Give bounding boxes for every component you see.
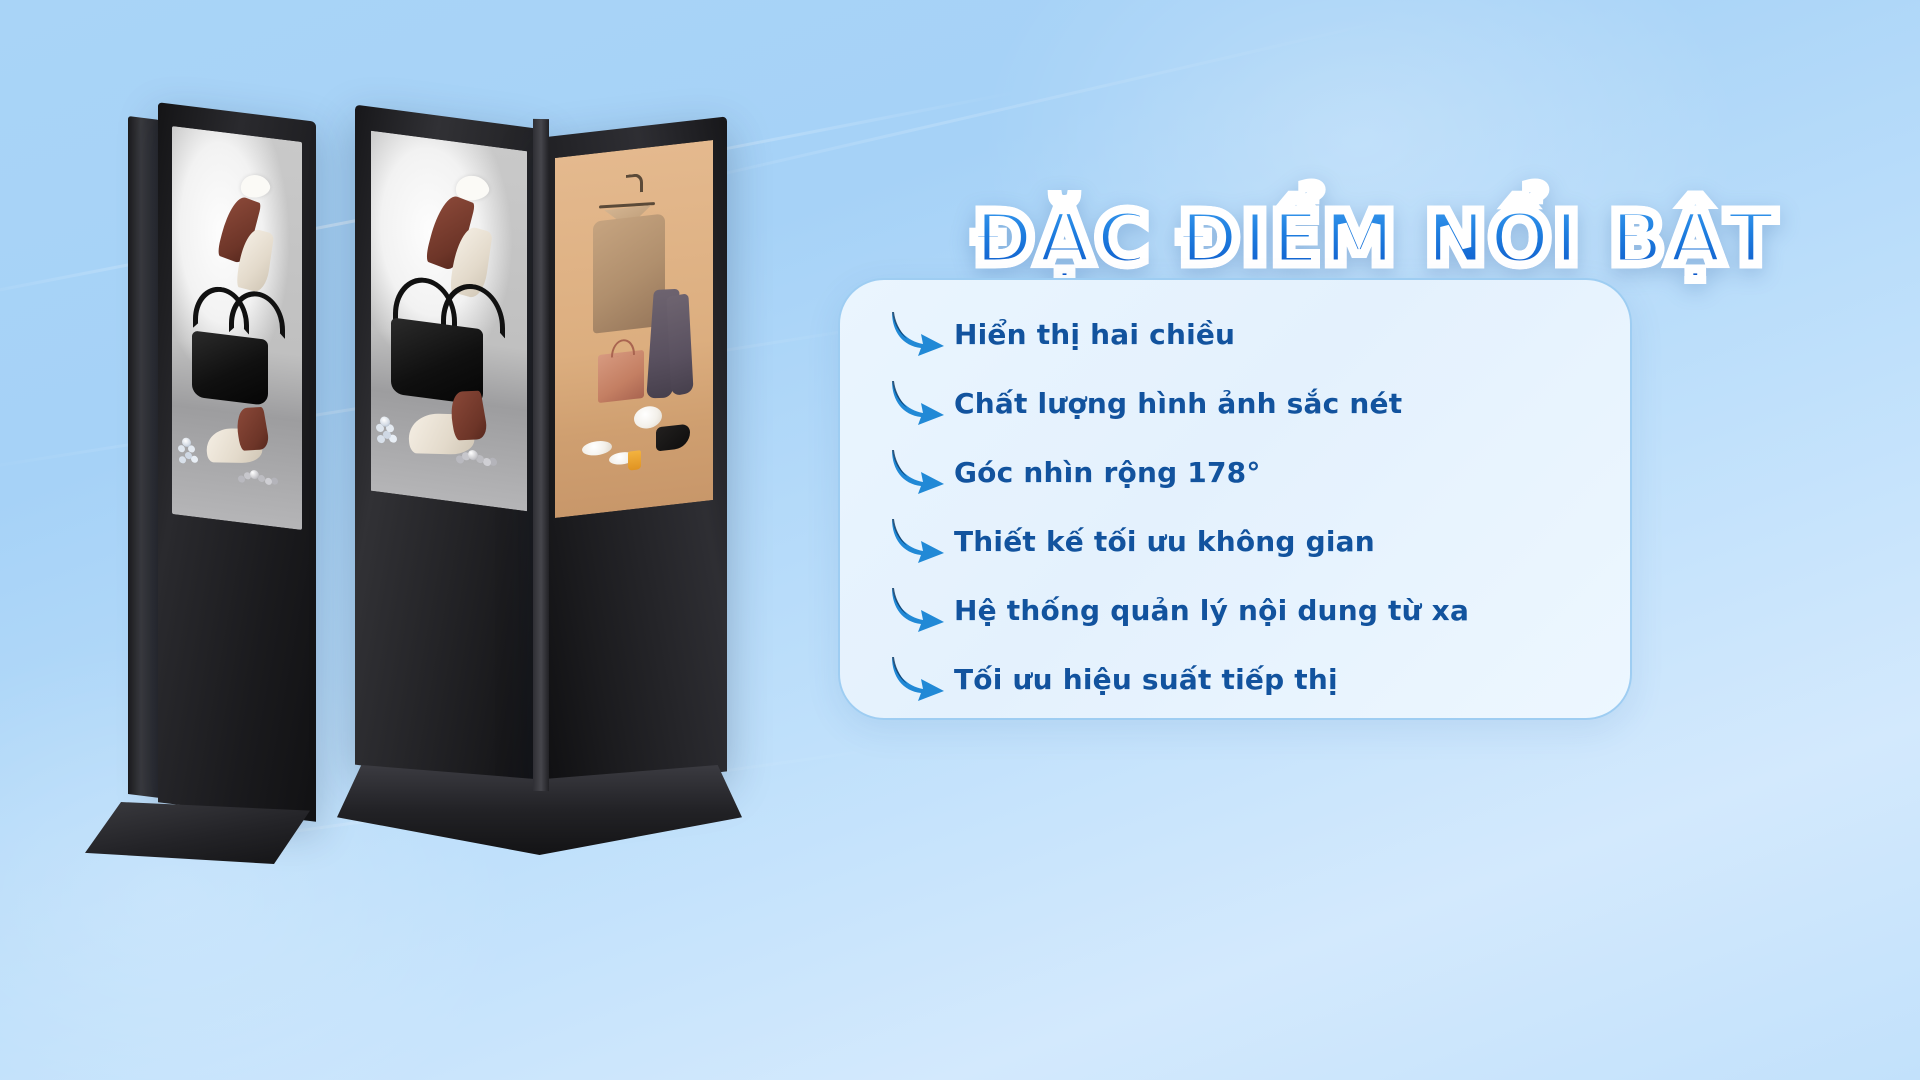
- list-item[interactable]: Thiết kế tối ưu không gian: [880, 509, 1610, 573]
- pearl-necklace-object: [250, 469, 259, 479]
- plate-object: [582, 440, 612, 457]
- list-item-label: Thiết kế tối ưu không gian: [954, 525, 1375, 558]
- list-item[interactable]: Hiển thị hai chiều: [880, 302, 1610, 366]
- page-title: ĐẶC ĐIỂM NỔI BẬT: [830, 202, 1920, 276]
- bow-object: [237, 172, 272, 200]
- feature-list: Hiển thị hai chiều Chất lượng hình ảnh s…: [880, 302, 1610, 711]
- kiosk-hinge: [533, 119, 549, 791]
- handbag-object: [192, 330, 268, 405]
- jewelry-object: [380, 416, 390, 427]
- screen-content-fashion-grey: [172, 126, 302, 530]
- kiosk-screen-front: [172, 126, 302, 530]
- curved-arrow-icon: [880, 446, 954, 498]
- kiosk-screen-right: [555, 140, 713, 518]
- feature-card: Hiển thị hai chiều Chất lượng hình ảnh s…: [838, 278, 1632, 720]
- curved-arrow-icon: [880, 377, 954, 429]
- curved-arrow-icon: [880, 584, 954, 636]
- screen-content-fashion-tan: [555, 140, 713, 518]
- kiosk-front-double-sided: [355, 105, 755, 825]
- kiosk-screen-left: [371, 131, 527, 512]
- hanger-hook-icon: [626, 173, 643, 194]
- list-item-label: Góc nhìn rộng 178°: [954, 456, 1261, 489]
- kiosk-side-rail: [128, 116, 160, 798]
- curved-arrow-icon: [880, 308, 954, 360]
- heel-brown-object: [234, 407, 271, 451]
- juice-glass-object: [628, 451, 641, 471]
- jewelry-object: [182, 438, 191, 448]
- poster-canvas: ĐẶC ĐIỂM NỔI BẬT Hiển thị hai chiều: [0, 0, 1920, 1080]
- screen-content-fashion-grey: [371, 131, 527, 512]
- list-item-label: Tối ưu hiệu suất tiếp thị: [954, 663, 1338, 696]
- list-item[interactable]: Hệ thống quản lý nội dung từ xa: [880, 578, 1610, 642]
- pearl-necklace-object: [468, 449, 478, 460]
- list-item-label: Chất lượng hình ảnh sắc nét: [954, 387, 1402, 420]
- list-item-label: Hệ thống quản lý nội dung từ xa: [954, 594, 1469, 627]
- curved-arrow-icon: [880, 515, 954, 567]
- kiosk-base: [85, 802, 310, 864]
- boot-object: [656, 423, 690, 451]
- list-item[interactable]: Tối ưu hiệu suất tiếp thị: [880, 647, 1610, 711]
- content-column: ĐẶC ĐIỂM NỔI BẬT Hiển thị hai chiều: [830, 0, 1920, 1080]
- trousers-object: [666, 294, 693, 397]
- list-item[interactable]: Góc nhìn rộng 178°: [880, 440, 1610, 504]
- plate-stack-object: [634, 405, 662, 430]
- list-item-label: Hiển thị hai chiều: [954, 318, 1235, 351]
- list-item[interactable]: Chất lượng hình ảnh sắc nét: [880, 371, 1610, 435]
- product-illustration: [0, 0, 830, 1080]
- kiosk-back: [110, 112, 325, 812]
- shopping-bag-object: [598, 349, 644, 402]
- curved-arrow-icon: [880, 653, 954, 705]
